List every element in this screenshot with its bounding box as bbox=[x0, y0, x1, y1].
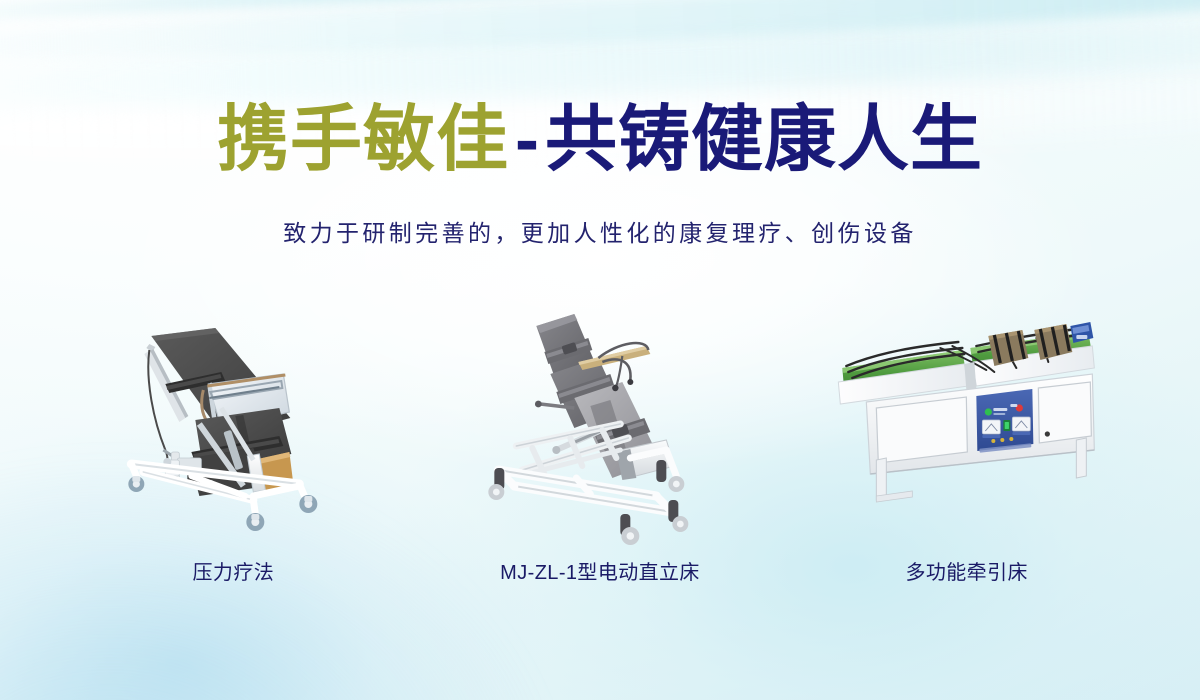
headline-part-b: 共铸健康人生 bbox=[545, 100, 983, 180]
headline-separator: - bbox=[509, 100, 545, 180]
product-caption-2: MJ-ZL-1型电动直立床 bbox=[417, 556, 784, 585]
product-card-1[interactable]: 压力疗法 bbox=[50, 300, 417, 600]
pressure-therapy-bed-icon bbox=[50, 300, 417, 550]
product-card-3[interactable]: 多功能牵引床 bbox=[783, 300, 1150, 600]
banner-subheadline: 致力于研制完善的，更加人性化的康复理疗、创伤设备 bbox=[0, 219, 1200, 249]
product-card-2[interactable]: MJ-ZL-1型电动直立床 bbox=[417, 300, 784, 600]
electric-standing-bed-icon bbox=[417, 300, 784, 550]
banner-headline: 携手敏佳-共铸健康人生 bbox=[0, 104, 1200, 176]
multifunction-traction-bed-icon bbox=[783, 300, 1150, 550]
product-showcase: 压力疗法 bbox=[50, 300, 1150, 600]
product-caption-3: 多功能牵引床 bbox=[783, 556, 1150, 585]
headline-part-a: 携手敏佳 bbox=[217, 100, 509, 180]
promo-banner: 携手敏佳-共铸健康人生 致力于研制完善的，更加人性化的康复理疗、创伤设备 bbox=[0, 0, 1200, 700]
product-caption-1: 压力疗法 bbox=[50, 556, 417, 585]
banner-content: 携手敏佳-共铸健康人生 致力于研制完善的，更加人性化的康复理疗、创伤设备 bbox=[0, 0, 1200, 700]
